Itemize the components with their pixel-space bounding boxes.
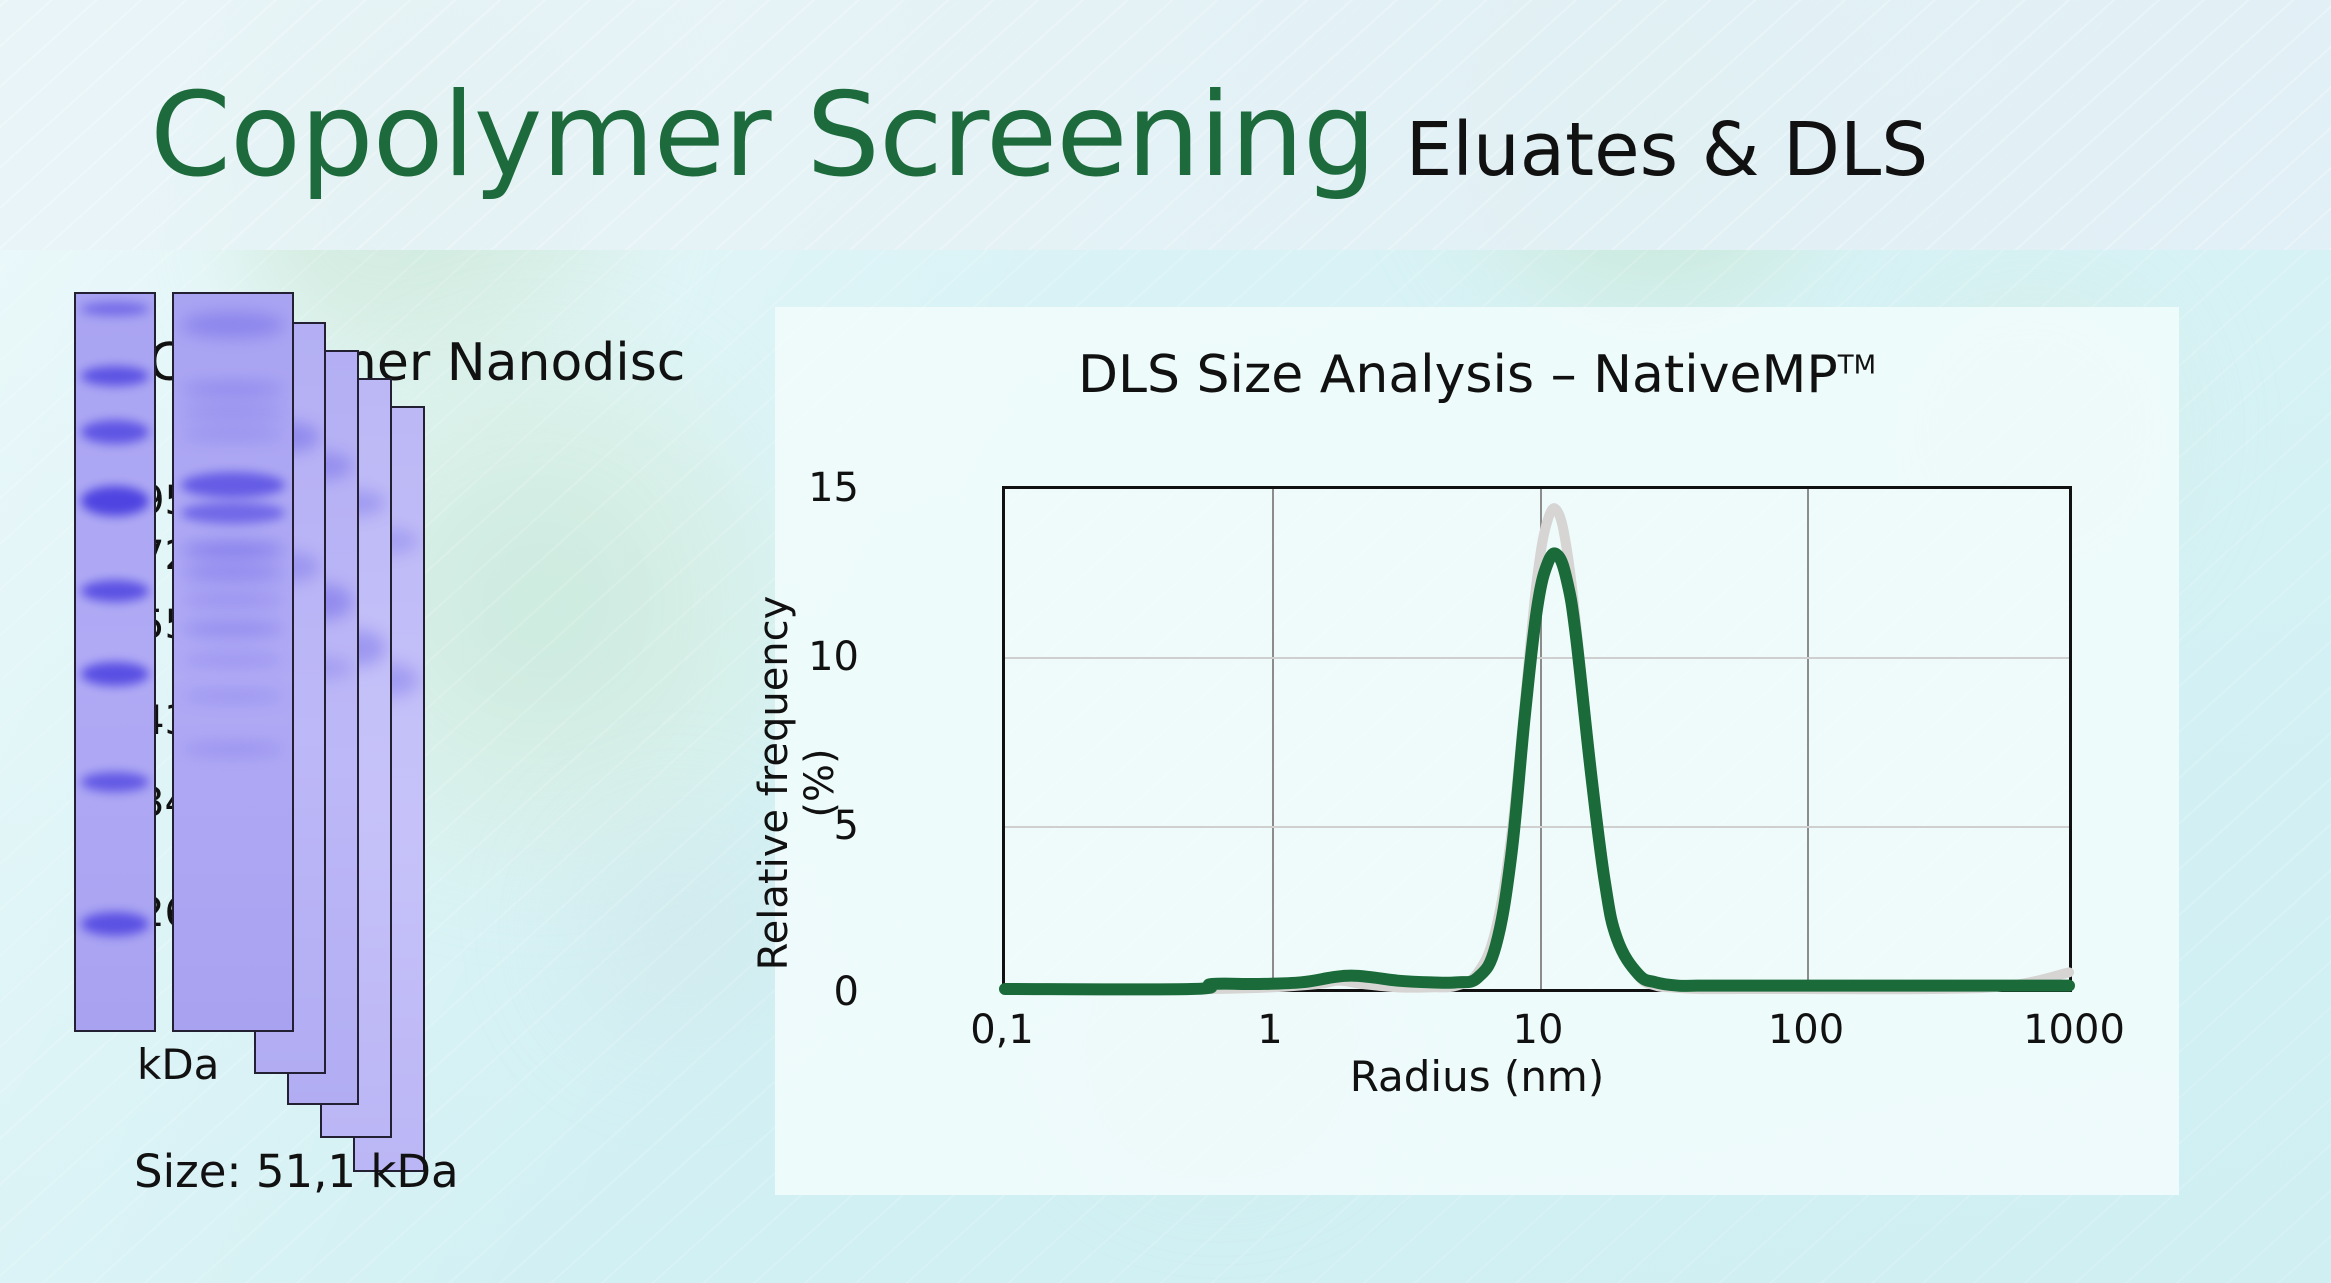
chart-ytick-5: 5 [739, 803, 859, 849]
chart-title: DLS Size Analysis – NativeMPTM [775, 345, 2179, 405]
chart-ytick-15: 15 [739, 465, 859, 511]
slide-canvas: Copolymer Screening Eluates & DLS Copoly… [0, 0, 2331, 1283]
chart-xtick-1000: 1000 [1989, 1007, 2159, 1053]
chart-xtick-1: 1 [1185, 1007, 1355, 1053]
chart-ytick-0: 0 [739, 969, 859, 1015]
page-title: Copolymer Screening [150, 78, 1376, 194]
chart-ytick-10: 10 [739, 634, 859, 680]
gel-unit-label: kDa [137, 1040, 219, 1089]
gel-lane-ladder [74, 292, 156, 1032]
gel-lane-sample-1 [172, 292, 294, 1032]
chart-title-trademark: TM [1838, 351, 1876, 381]
chart-plot-area [1002, 486, 2072, 992]
chart-xtick-100: 100 [1721, 1007, 1891, 1053]
page-subtitle: Eluates & DLS [1406, 113, 1929, 187]
chart-series-nativemp [1005, 553, 2069, 989]
slide-header: Copolymer Screening Eluates & DLS [0, 0, 2331, 250]
chart-title-text: DLS Size Analysis – NativeMP [1078, 345, 1838, 405]
title-row: Copolymer Screening Eluates & DLS [150, 78, 1928, 194]
gel-size-label: Size: 51,1 kDa [134, 1145, 459, 1198]
chart-xtick-10: 10 [1453, 1007, 1623, 1053]
dls-chart-panel: DLS Size Analysis – NativeMPTM Relative … [775, 307, 2179, 1195]
chart-xtick-0-1: 0,1 [917, 1007, 1087, 1053]
chart-x-axis-label: Radius (nm) [775, 1052, 2179, 1101]
chart-curves [1005, 489, 2069, 989]
